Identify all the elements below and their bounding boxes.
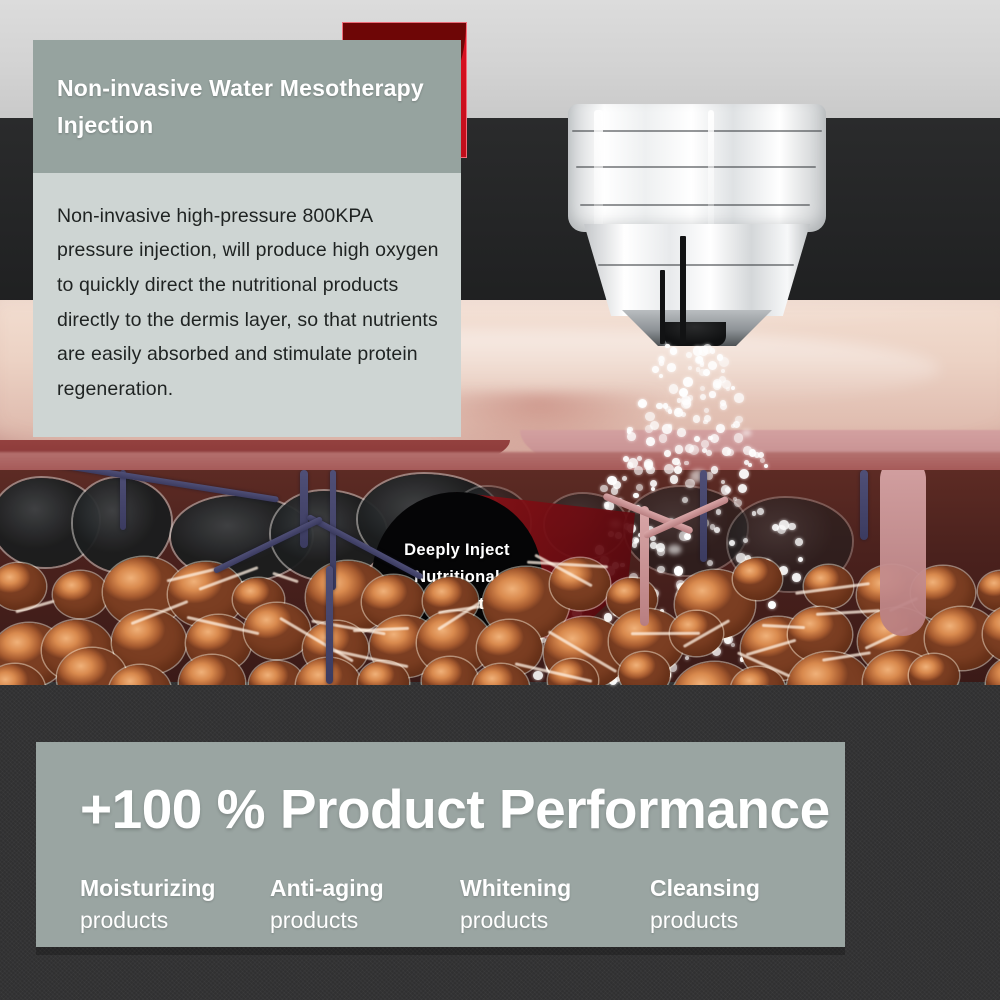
banner-item-name: Moisturizing: [80, 873, 270, 905]
nozzle-needle: [680, 236, 686, 344]
fat-globule: [53, 571, 108, 618]
nozzle-ring: [576, 166, 816, 168]
banner-item: Moisturizingproducts: [80, 873, 270, 936]
banner-item: Cleansingproducts: [650, 873, 840, 936]
nozzle-ring: [598, 264, 794, 266]
banner-item: Anti-agingproducts: [270, 873, 460, 936]
blood-vessel: [300, 470, 308, 548]
banner-item-name: Whitening: [460, 873, 650, 905]
nozzle-highlight: [708, 110, 714, 228]
fat-globule: [249, 661, 304, 685]
blood-vessel: [700, 470, 707, 562]
performance-banner: +100 % Product Performance Moisturizingp…: [36, 742, 845, 947]
banner-item: Whiteningproducts: [460, 873, 650, 936]
nozzle-needle: [660, 270, 665, 344]
banner-item-list: MoisturizingproductsAnti-agingproductsWh…: [36, 837, 845, 936]
fat-globule: [978, 571, 1000, 611]
blood-vessel: [640, 506, 649, 626]
dermis-vessel-wall: [880, 470, 926, 636]
panel-title-block: Non-invasive Water Mesotherapy Injection: [33, 40, 461, 173]
collagen-strand: [273, 572, 300, 584]
banner-item-suffix: products: [270, 905, 460, 937]
collagen-strand: [631, 632, 700, 635]
banner-item-suffix: products: [80, 905, 270, 937]
banner-item-name: Cleansing: [650, 873, 840, 905]
banner-item-suffix: products: [460, 905, 650, 937]
nozzle-highlight: [594, 110, 603, 228]
handpiece-nozzle-icon: [558, 104, 836, 344]
banner-headline: +100 % Product Performance: [36, 742, 845, 837]
panel-description: Non-invasive high-pressure 800KPA pressu…: [57, 199, 439, 407]
panel-body-block: Non-invasive high-pressure 800KPA pressu…: [33, 173, 461, 437]
banner-item-name: Anti-aging: [270, 873, 460, 905]
blood-vessel: [326, 566, 333, 684]
page-title: Non-invasive Water Mesotherapy Injection: [57, 70, 435, 145]
fat-globule: [733, 558, 782, 600]
callout-line-1: Deeply Inject: [404, 541, 510, 560]
nozzle-ring: [580, 204, 810, 206]
nozzle-aperture: [664, 322, 726, 346]
nozzle-ring: [572, 130, 822, 132]
info-panel: Non-invasive Water Mesotherapy Injection…: [33, 40, 461, 437]
banner-item-suffix: products: [650, 905, 840, 937]
blood-vessel: [120, 470, 126, 530]
nozzle-midsection: [584, 224, 810, 316]
infographic-stage: Non-invasive Water Mesotherapy Injection…: [0, 0, 1000, 1000]
blood-vessel: [860, 470, 868, 540]
nozzle-body: [568, 104, 826, 232]
